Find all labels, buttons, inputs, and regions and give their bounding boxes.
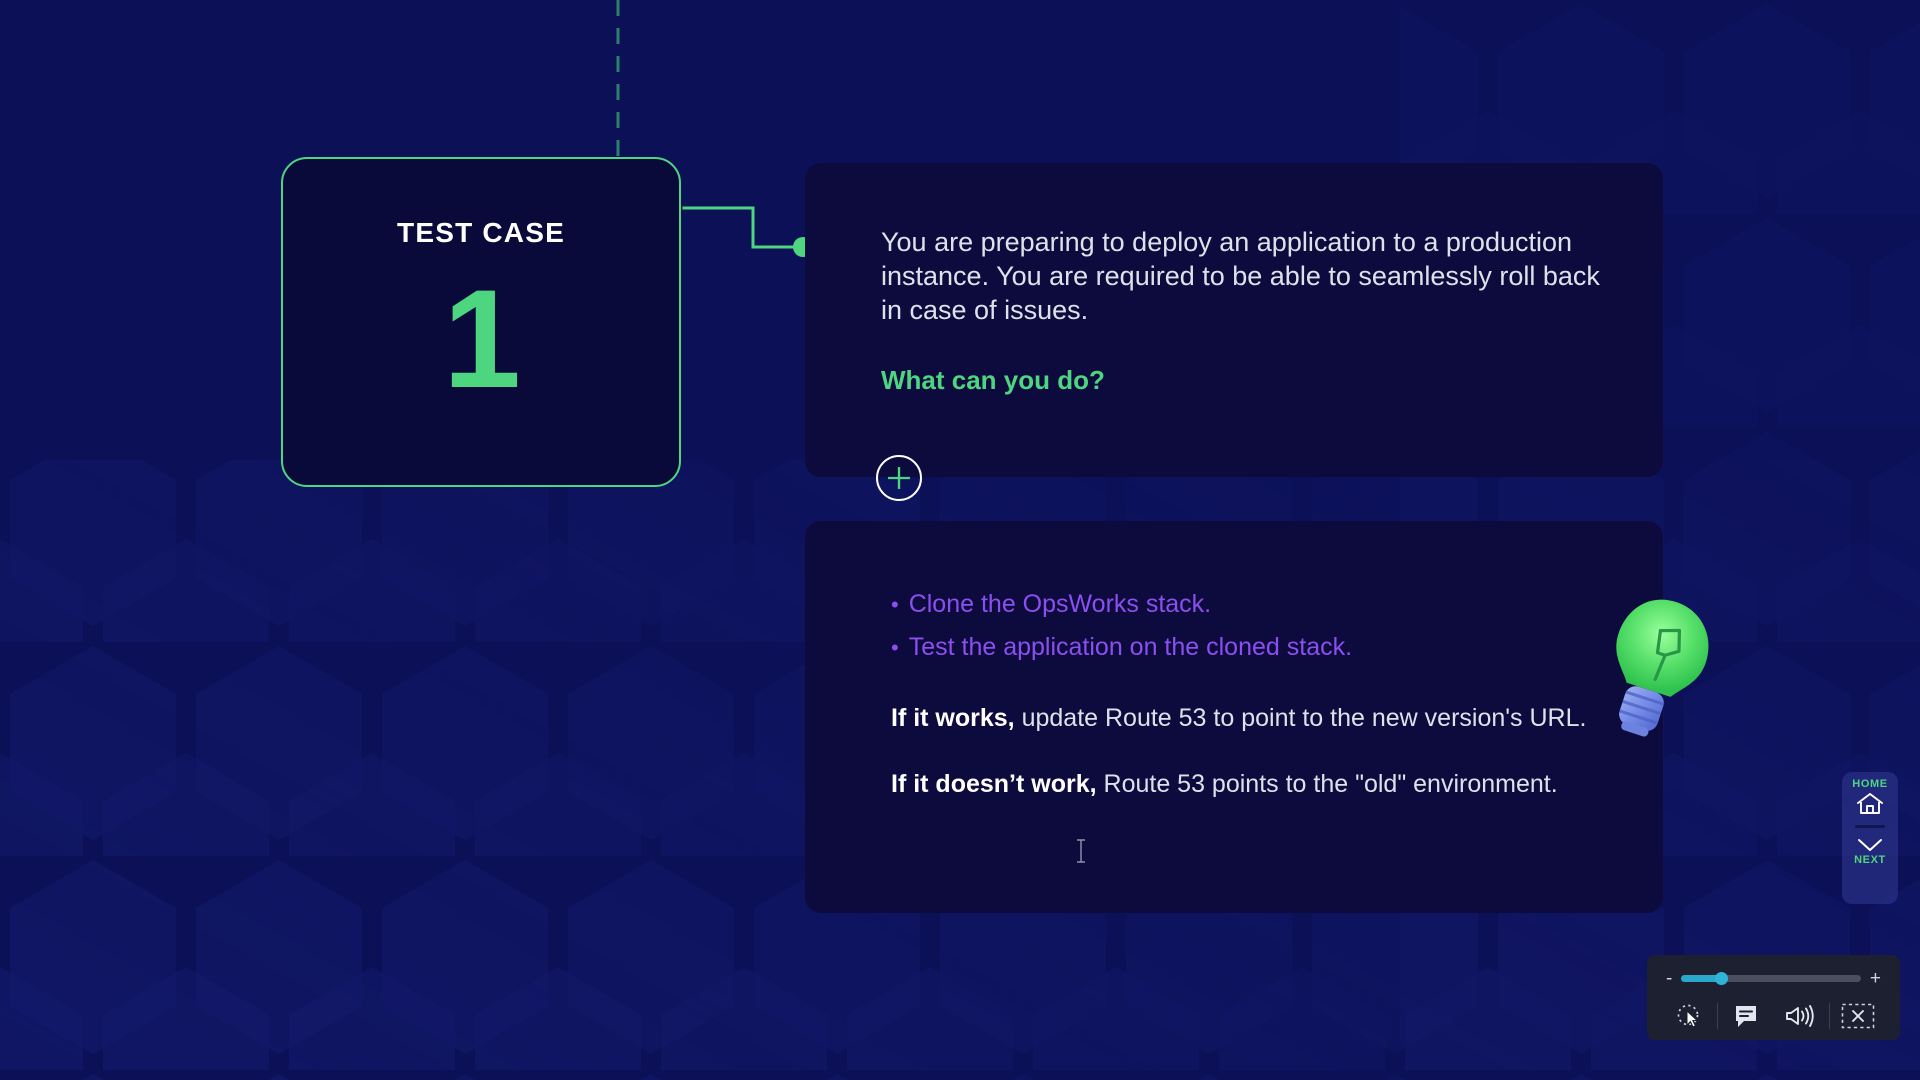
volume-button[interactable] [1774, 993, 1830, 1038]
answer-paragraph-rest: Route 53 points to the "old" environment… [1097, 770, 1558, 798]
answer-paragraph-if-works: If it works, update Route 53 to point to… [891, 701, 1623, 735]
test-case-card: TEST CASE 1 [281, 157, 681, 487]
question-panel: You are preparing to deploy an applicati… [805, 163, 1663, 477]
next-caption: NEXT [1854, 854, 1886, 867]
bullet-marker: • [891, 583, 899, 626]
pointer-icon [1674, 1001, 1704, 1031]
captions-button[interactable] [1718, 993, 1774, 1038]
nav-divider [1855, 825, 1885, 828]
answer-paragraph-lead: If it works, [891, 704, 1015, 732]
answer-bullet-item: • Clone the OpsWorks stack. [891, 583, 1623, 626]
answer-bullet-item: • Test the application on the cloned sta… [891, 626, 1623, 669]
next-button[interactable]: NEXT [1842, 834, 1898, 867]
answer-paragraph-rest: update Route 53 to point to the new vers… [1015, 704, 1587, 732]
test-case-label: TEST CASE [397, 219, 565, 247]
home-caption: HOME [1852, 778, 1887, 791]
bullet-text: Clone the OpsWorks stack. [909, 583, 1211, 626]
zoom-slider-track[interactable] [1681, 975, 1861, 982]
zoom-control: - + [1661, 967, 1886, 989]
chevron-down-icon [1855, 836, 1885, 854]
captions-icon [1733, 1003, 1759, 1029]
answer-paragraph-lead: If it doesn’t work, [891, 770, 1097, 798]
answer-paragraph-if-fails: If it doesn’t work, Route 53 points to t… [891, 767, 1623, 801]
answer-panel: • Clone the OpsWorks stack. • Test the a… [805, 521, 1663, 913]
pointer-button[interactable] [1661, 993, 1717, 1038]
close-button[interactable] [1830, 993, 1886, 1038]
test-case-number: 1 [443, 269, 519, 409]
bullet-marker: • [891, 626, 899, 669]
home-icon [1855, 791, 1885, 816]
question-prompt: What can you do? [881, 365, 1603, 396]
home-button[interactable]: HOME [1842, 778, 1898, 820]
zoom-slider-knob[interactable] [1715, 972, 1728, 985]
close-icon [1841, 1003, 1875, 1029]
zoom-in-button[interactable]: + [1870, 969, 1881, 988]
player-toolbar: - + [1647, 955, 1900, 1040]
slide-canvas: TEST CASE 1 You are preparing to deploy … [0, 0, 1920, 1080]
side-navigation: HOME NEXT [1842, 772, 1898, 904]
zoom-out-button[interactable]: - [1666, 969, 1672, 988]
expand-button[interactable] [876, 455, 922, 501]
question-text: You are preparing to deploy an applicati… [881, 225, 1603, 327]
toolbar-icon-row [1661, 993, 1886, 1038]
volume-icon [1785, 1003, 1817, 1029]
bullet-text: Test the application on the cloned stack… [909, 626, 1352, 669]
stepped-connector-line [684, 208, 795, 247]
plus-icon [878, 457, 920, 499]
